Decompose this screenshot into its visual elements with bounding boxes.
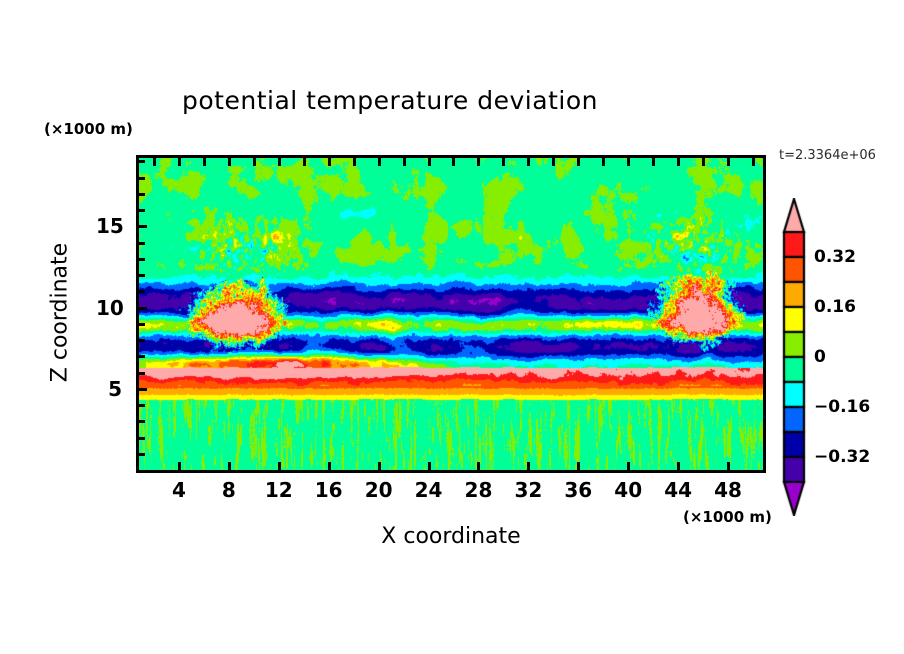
y-tick-label: 5 — [96, 377, 122, 401]
y-tick-minor — [138, 242, 145, 245]
y-tick-minor — [138, 339, 145, 342]
y-tick-minor — [138, 404, 145, 407]
x-tick-top — [727, 157, 730, 166]
x-tick-top — [552, 157, 555, 166]
colorbar-gradient — [781, 198, 807, 516]
x-axis-title: X coordinate — [236, 524, 666, 549]
x-tick-top — [278, 157, 281, 166]
x-tick — [178, 462, 181, 471]
x-tick — [428, 462, 431, 471]
x-tick-top — [203, 157, 206, 166]
y-tick-minor — [138, 274, 145, 277]
y-tick-minor — [138, 209, 145, 212]
x-tick-top — [477, 157, 480, 166]
y-tick-minor — [138, 323, 145, 326]
x-tick-label: 24 — [415, 478, 443, 502]
x-tick-label: 4 — [172, 478, 186, 502]
y-tick-minor — [138, 437, 145, 440]
y-axis-title: Z coordinate — [48, 213, 73, 413]
y-tick-label: 15 — [96, 214, 122, 238]
x-tick-top — [378, 157, 381, 166]
x-tick — [727, 462, 730, 471]
colorbar — [781, 198, 807, 516]
x-tick-top — [228, 157, 231, 166]
time-annotation: t=2.3364e+06 — [779, 148, 876, 163]
x-tick-top — [702, 157, 705, 166]
x-tick-label: 20 — [365, 478, 393, 502]
colorbar-tick-label: 0.16 — [814, 297, 856, 317]
y-tick-minor — [138, 193, 145, 196]
x-tick-top — [752, 157, 755, 166]
y-axis-unit-label: (×1000 m) — [44, 120, 133, 138]
colorbar-tick-label: −0.32 — [814, 447, 870, 467]
x-tick — [228, 462, 231, 471]
x-axis-unit-label: (×1000 m) — [683, 508, 772, 526]
y-tick-minor — [138, 388, 145, 391]
y-tick-minor — [138, 453, 145, 456]
x-tick-top — [602, 157, 605, 166]
x-tick-top — [153, 157, 156, 166]
x-tick-top — [353, 157, 356, 166]
x-tick-top — [652, 157, 655, 166]
x-tick-top — [428, 157, 431, 166]
x-tick-top — [328, 157, 331, 166]
x-tick-top — [303, 157, 306, 166]
y-tick-minor — [138, 372, 145, 375]
x-tick-top — [677, 157, 680, 166]
y-tick-minor — [138, 307, 145, 310]
plot-area — [136, 155, 766, 473]
x-tick — [577, 462, 580, 471]
x-tick-label: 8 — [222, 478, 236, 502]
y-tick-minor — [138, 420, 145, 423]
x-tick-top — [403, 157, 406, 166]
y-tick-minor — [138, 160, 145, 163]
x-tick — [527, 462, 530, 471]
colorbar-tick-label: 0.32 — [814, 247, 856, 267]
x-tick-label: 36 — [564, 478, 592, 502]
colorbar-tick-label: −0.16 — [814, 397, 870, 417]
x-tick-top — [253, 157, 256, 166]
x-tick — [328, 462, 331, 471]
x-tick — [677, 462, 680, 471]
y-tick-minor — [138, 355, 145, 358]
y-tick-minor — [138, 225, 145, 228]
x-tick — [477, 462, 480, 471]
x-tick-label: 28 — [465, 478, 493, 502]
figure-root: potential temperature deviation (×1000 m… — [0, 0, 904, 654]
x-tick-label: 44 — [664, 478, 692, 502]
x-tick-label: 48 — [714, 478, 742, 502]
x-tick-label: 40 — [614, 478, 642, 502]
x-tick — [278, 462, 281, 471]
x-tick-label: 16 — [315, 478, 343, 502]
y-tick-label: 10 — [96, 296, 122, 320]
page-title: potential temperature deviation — [0, 86, 780, 115]
x-tick-label: 12 — [265, 478, 293, 502]
x-tick — [627, 462, 630, 471]
y-tick-minor — [138, 290, 145, 293]
contour-field — [139, 158, 763, 470]
x-tick-top — [178, 157, 181, 166]
x-tick-top — [577, 157, 580, 166]
x-tick-top — [527, 157, 530, 166]
x-tick — [378, 462, 381, 471]
y-tick-minor — [138, 177, 145, 180]
x-tick-top — [452, 157, 455, 166]
x-tick-top — [627, 157, 630, 166]
y-tick-minor — [138, 258, 145, 261]
x-tick-top — [502, 157, 505, 166]
colorbar-tick-label: 0 — [814, 347, 826, 367]
x-tick-label: 32 — [514, 478, 542, 502]
